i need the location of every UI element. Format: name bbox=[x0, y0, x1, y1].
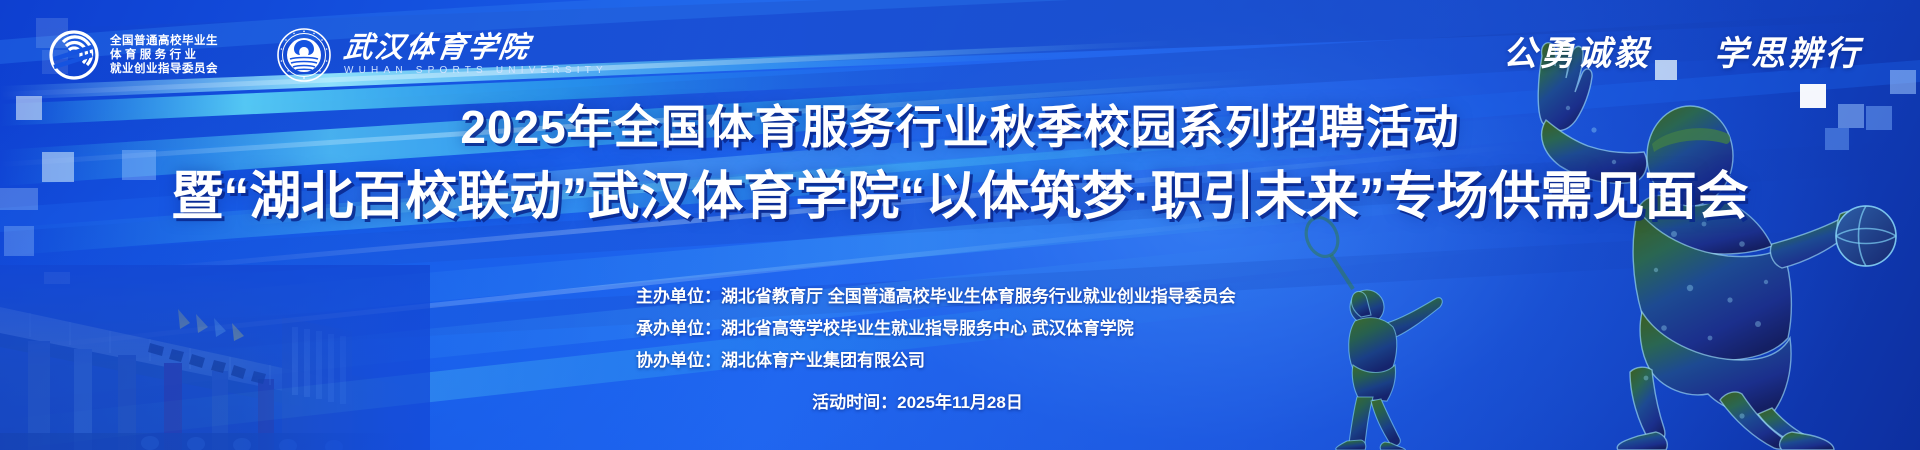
organizer-value: 湖北省教育厅 全国普通高校毕业生体育服务行业就业创业指导委员会 bbox=[721, 287, 1236, 306]
organizer-block: 主办单位：湖北省教育厅 全国普通高校毕业生体育服务行业就业创业指导委员会 承办单… bbox=[636, 281, 1236, 377]
organizer-label: 主办单位： bbox=[636, 287, 721, 306]
event-banner: 全国普通高校毕业生 体育服务行业 就业创业指导委员会 bbox=[0, 0, 1920, 450]
spiral-arc-logo-icon bbox=[48, 29, 100, 81]
deco-square bbox=[4, 226, 34, 256]
organizer-value: 湖北体育产业集团有限公司 bbox=[721, 351, 925, 370]
motto-part-1: 公勇诚毅 bbox=[1503, 26, 1651, 75]
university-logo-text: 武汉体育学院 WUHAN SPORTS UNIVERSITY bbox=[344, 33, 608, 78]
motto-part-2: 学思辨行 bbox=[1714, 26, 1862, 75]
committee-logo-line3: 就业创业指导委员会 bbox=[110, 62, 218, 76]
university-logo: 武汉体育学院 WUHAN SPORTS UNIVERSITY bbox=[276, 27, 608, 83]
page-title-line-1: 2025年全国体育服务行业秋季校园系列招聘活动 bbox=[0, 98, 1920, 156]
organizer-label: 承办单位： bbox=[636, 319, 721, 338]
committee-logo-text: 全国普通高校毕业生 体育服务行业 就业创业指导委员会 bbox=[110, 34, 218, 76]
organizer-row: 主办单位：湖北省教育厅 全国普通高校毕业生体育服务行业就业创业指导委员会 bbox=[636, 281, 1236, 313]
university-name-en: WUHAN SPORTS UNIVERSITY bbox=[344, 64, 608, 78]
organizer-label: 协办单位： bbox=[636, 351, 721, 370]
university-motto: 公勇诚毅 学思辨行 bbox=[1503, 26, 1862, 75]
deco-square bbox=[1890, 70, 1916, 94]
organizer-row: 承办单位：湖北省高等学校毕业生就业指导服务中心 武汉体育学院 bbox=[636, 313, 1236, 345]
event-time: 活动时间：2025年11月28日 bbox=[0, 388, 1920, 413]
building-photo-fade-top bbox=[0, 265, 430, 450]
university-name-cn: 武汉体育学院 bbox=[342, 33, 610, 63]
committee-logo: 全国普通高校毕业生 体育服务行业 就业创业指导委员会 bbox=[48, 29, 218, 81]
title-block: 2025年全国体育服务行业秋季校园系列招聘活动 暨“湖北百校联动”武汉体育学院“… bbox=[0, 98, 1920, 228]
organizer-value: 湖北省高等学校毕业生就业指导服务中心 武汉体育学院 bbox=[721, 319, 1134, 338]
page-title-line-2: 暨“湖北百校联动”武汉体育学院“以体筑梦·职引未来”专场供需见面会 bbox=[0, 166, 1920, 228]
logo-row: 全国普通高校毕业生 体育服务行业 就业创业指导委员会 bbox=[48, 24, 608, 86]
wuhan-sports-university-seal-icon bbox=[276, 27, 332, 83]
event-time-text: 活动时间：2025年11月28日 bbox=[812, 388, 1023, 413]
committee-logo-line1: 全国普通高校毕业生 bbox=[110, 34, 218, 48]
badminton-player-silhouette bbox=[1295, 215, 1505, 450]
campus-building-photo bbox=[0, 265, 430, 450]
committee-logo-line2: 体育服务行业 bbox=[110, 48, 218, 62]
organizer-row: 协办单位：湖北体育产业集团有限公司 bbox=[636, 345, 1236, 377]
